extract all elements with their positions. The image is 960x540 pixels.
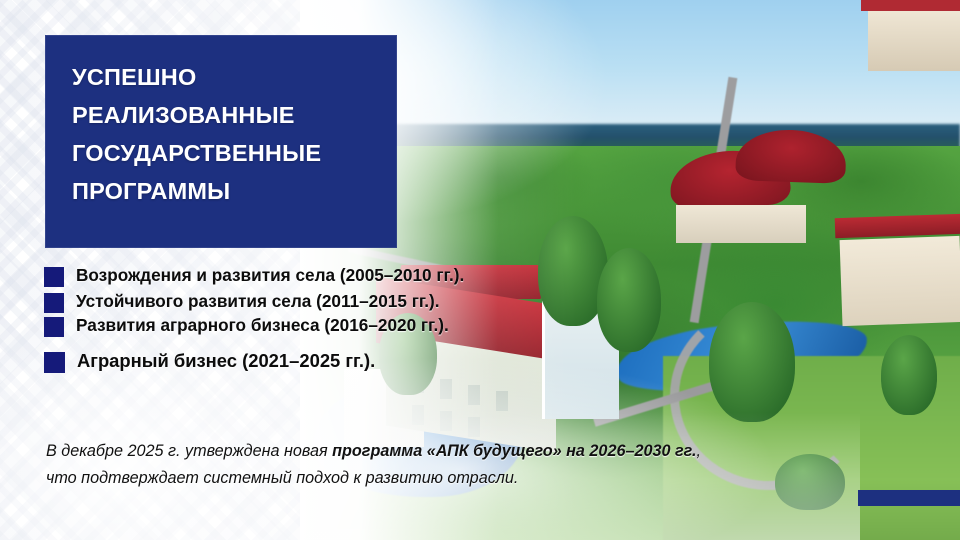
footer-note-part1: В декабре 2025 г. утверждена новая (46, 442, 332, 460)
page-title: УСПЕШНО РЕАЛИЗОВАННЫЕ ГОСУДАРСТВЕННЫЕ ПР… (72, 58, 382, 210)
square-bullet-icon (44, 317, 64, 337)
accent-bar (858, 490, 960, 506)
list-item[interactable]: Возрождения и развития села (2005–2010 г… (44, 264, 564, 287)
square-bullet-icon (44, 293, 64, 313)
list-item[interactable]: Устойчивого развития села (2011–2015 гг.… (44, 290, 564, 313)
square-bullet-icon (44, 267, 64, 287)
list-item-label: Устойчивого развития села (2011–2015 гг.… (76, 290, 440, 313)
square-bullet-icon (44, 352, 65, 373)
list-item-label: Возрождения и развития села (2005–2010 г… (76, 264, 464, 287)
list-item-label: Развития аграрного бизнеса (2016–2020 гг… (76, 314, 449, 337)
list-item[interactable]: Развития аграрного бизнеса (2016–2020 гг… (44, 314, 564, 337)
title-box: УСПЕШНО РЕАЛИЗОВАННЫЕ ГОСУДАРСТВЕННЫЕ ПР… (46, 36, 396, 247)
list-item-label: Аграрный бизнес (2021–2025 гг.). (77, 349, 375, 372)
list-item[interactable]: Аграрный бизнес (2021–2025 гг.). (44, 349, 564, 373)
footer-note-bold: программа «АПК будущего» на 2026–2030 гг… (332, 442, 696, 460)
slide-canvas: УСПЕШНО РЕАЛИЗОВАННЫЕ ГОСУДАРСТВЕННЫЕ ПР… (0, 0, 960, 540)
programs-list: Возрождения и развития села (2005–2010 г… (44, 264, 564, 373)
footer-note: В декабре 2025 г. утверждена новая прогр… (46, 438, 736, 492)
